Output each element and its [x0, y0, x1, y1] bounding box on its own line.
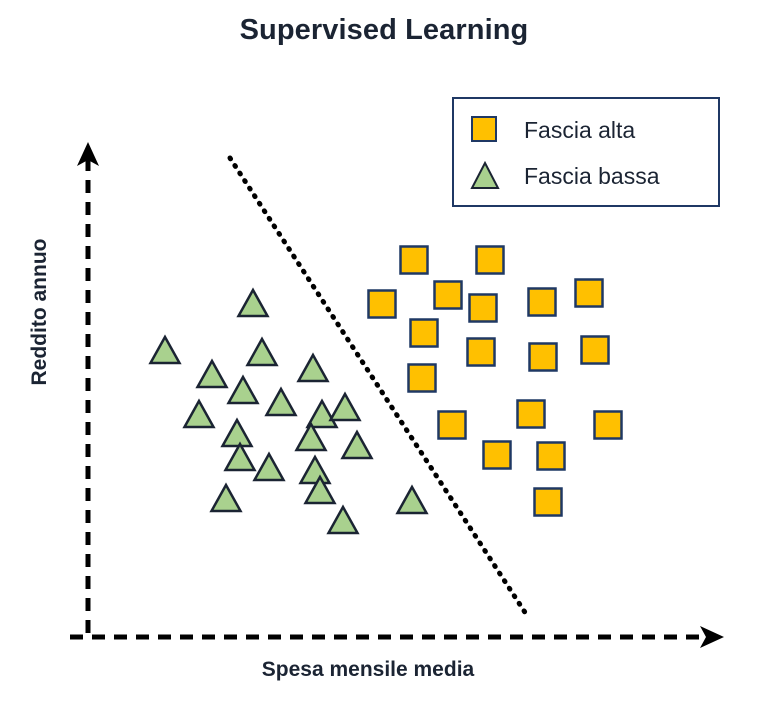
legend-item-label: Fascia bassa — [514, 163, 660, 190]
x-axis-label: Spesa mensile media — [88, 658, 648, 682]
data-point-square — [535, 489, 562, 516]
data-point-triangle — [198, 361, 227, 387]
data-point-triangle — [226, 444, 255, 470]
data-point-triangle — [267, 389, 296, 415]
data-point-square — [529, 289, 556, 316]
data-point-square — [468, 339, 495, 366]
data-point-square — [595, 412, 622, 439]
data-point-square — [538, 443, 565, 470]
data-point-triangle — [151, 337, 180, 363]
data-point-square — [409, 365, 436, 392]
data-point-triangle — [329, 507, 358, 533]
data-point-square — [518, 401, 545, 428]
data-point-triangle — [255, 454, 284, 480]
data-point-square — [411, 320, 438, 347]
data-point-square — [470, 295, 497, 322]
data-point-triangle — [223, 420, 252, 446]
data-point-triangle — [212, 485, 241, 511]
x-axis-arrow-icon — [700, 626, 724, 648]
data-point-square — [582, 337, 609, 364]
data-point-triangle — [301, 457, 330, 483]
series-fascia-bassa — [151, 290, 427, 533]
data-point-square — [576, 280, 603, 307]
data-point-triangle — [299, 355, 328, 381]
data-point-square — [401, 247, 428, 274]
chart-canvas: Supervised Learning Reddito annuo Spesa … — [0, 0, 768, 703]
data-point-triangle — [239, 290, 268, 316]
data-point-triangle — [248, 339, 277, 365]
data-point-triangle — [229, 377, 258, 403]
data-point-square — [530, 344, 557, 371]
data-point-triangle — [185, 401, 214, 427]
y-axis-label: Reddito annuo — [28, 212, 52, 412]
square-marker-icon — [454, 110, 514, 150]
data-point-triangle — [398, 487, 427, 513]
x-axis — [70, 626, 724, 648]
series-fascia-alta — [369, 247, 622, 516]
data-point-triangle — [331, 394, 360, 420]
y-axis — [77, 142, 99, 642]
data-point-square — [477, 247, 504, 274]
data-point-square — [484, 442, 511, 469]
data-point-square — [369, 291, 396, 318]
data-point-triangle — [343, 432, 372, 458]
legend-item-fascia-bassa[interactable]: Fascia bassa — [454, 153, 718, 199]
legend-item-label: Fascia alta — [514, 117, 635, 144]
legend: Fascia alta Fascia bassa — [452, 97, 720, 207]
decision-boundary-line — [230, 158, 528, 617]
triangle-marker-icon — [454, 156, 514, 196]
legend-item-fascia-alta[interactable]: Fascia alta — [454, 107, 718, 153]
data-point-square — [439, 412, 466, 439]
data-point-square — [435, 282, 462, 309]
